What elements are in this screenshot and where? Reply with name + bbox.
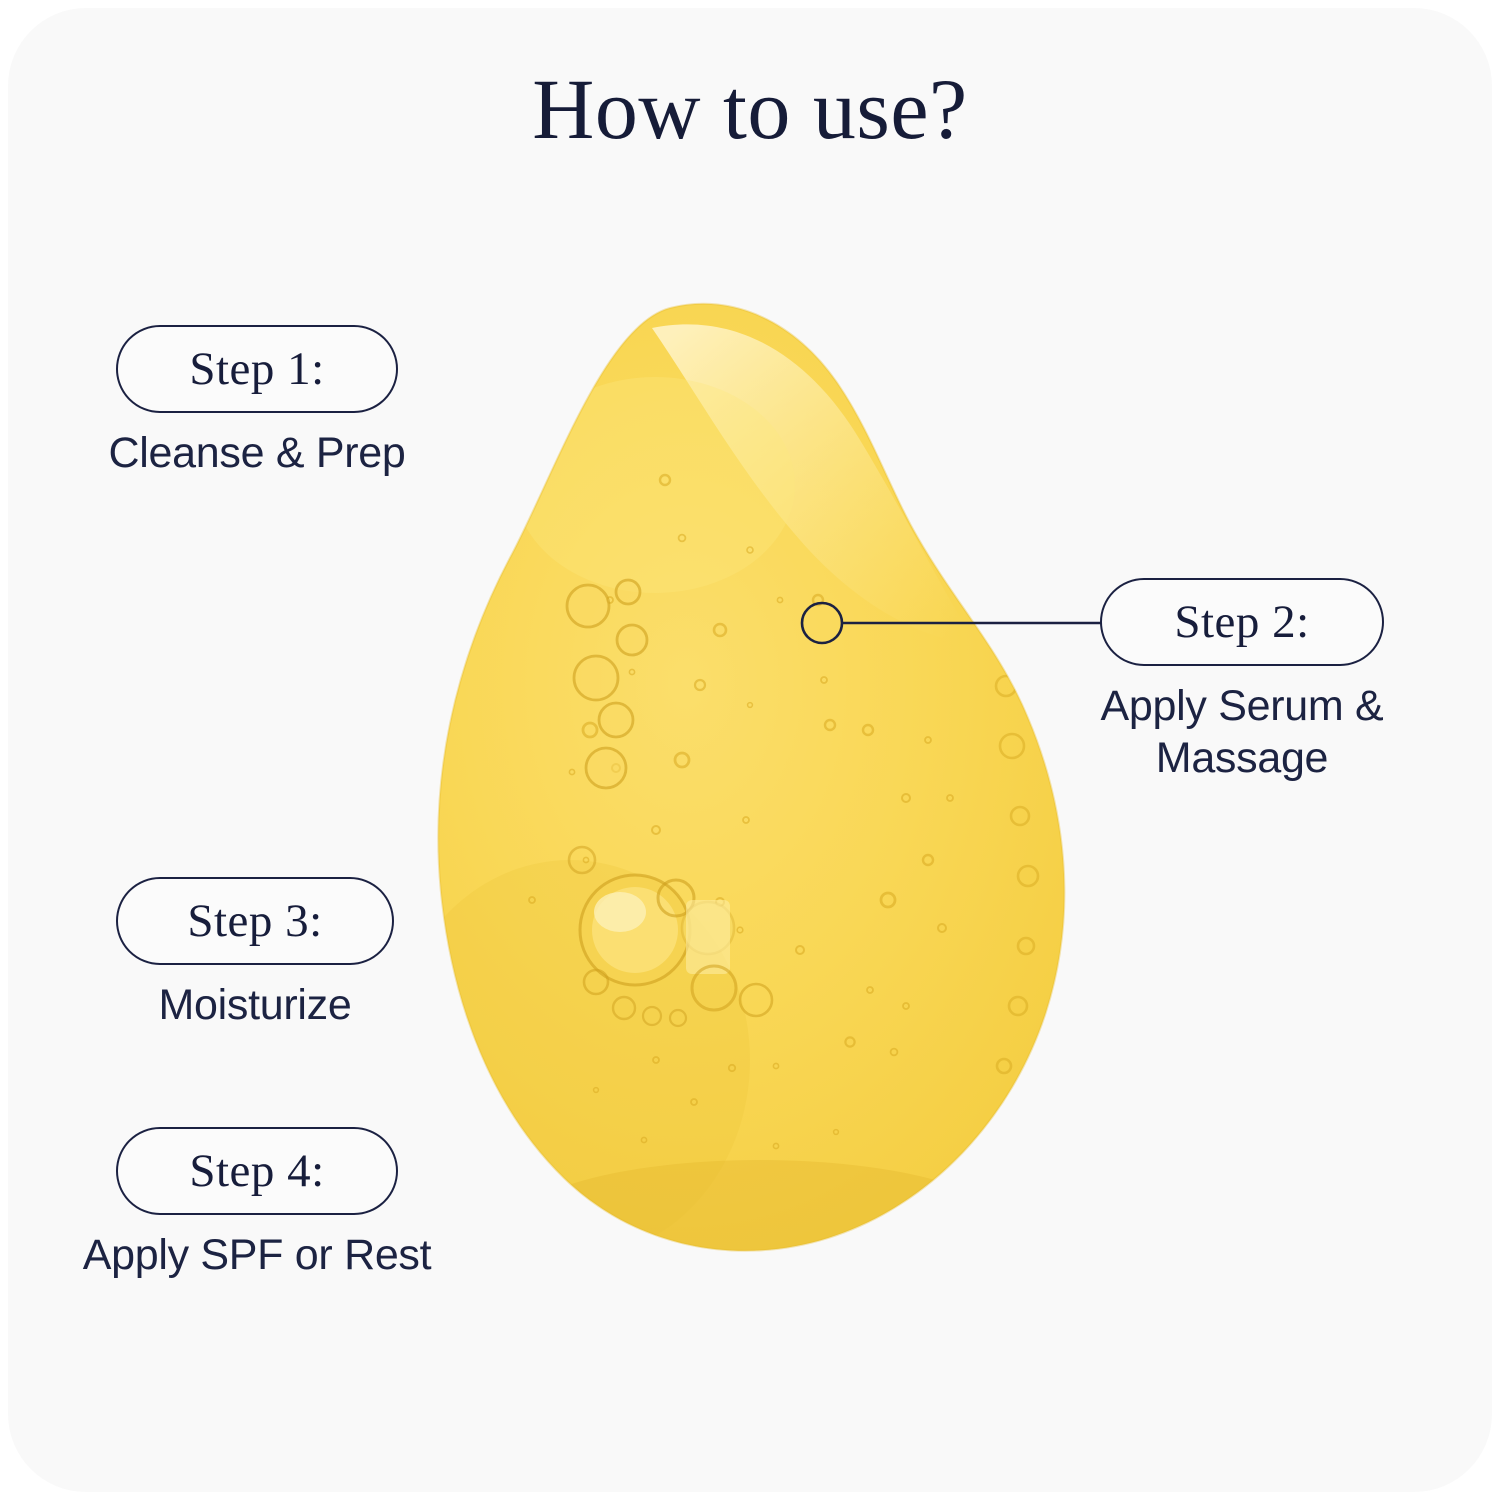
step-1-caption: Cleanse & Prep [92, 427, 422, 479]
how-to-use-infographic: How to use? [0, 0, 1500, 1500]
step-3-pill[interactable]: Step 3: [116, 877, 394, 965]
step-1-group: Step 1: Cleanse & Prep [116, 325, 398, 479]
page-title: How to use? [0, 62, 1500, 157]
step-4-group: Step 4: Apply SPF or Rest [116, 1127, 398, 1281]
step-3-caption: Moisturize [105, 979, 405, 1031]
step-4-caption: Apply SPF or Rest [77, 1229, 437, 1281]
step-2-group: Step 2: Apply Serum & Massage [1100, 578, 1384, 785]
step-2-pill[interactable]: Step 2: [1100, 578, 1384, 666]
step-1-pill[interactable]: Step 1: [116, 325, 398, 413]
step-4-pill[interactable]: Step 4: [116, 1127, 398, 1215]
step-3-group: Step 3: Moisturize [116, 877, 394, 1031]
serum-droplet-illustration [420, 300, 1120, 1260]
step-2-caption: Apply Serum & Massage [1092, 680, 1392, 785]
